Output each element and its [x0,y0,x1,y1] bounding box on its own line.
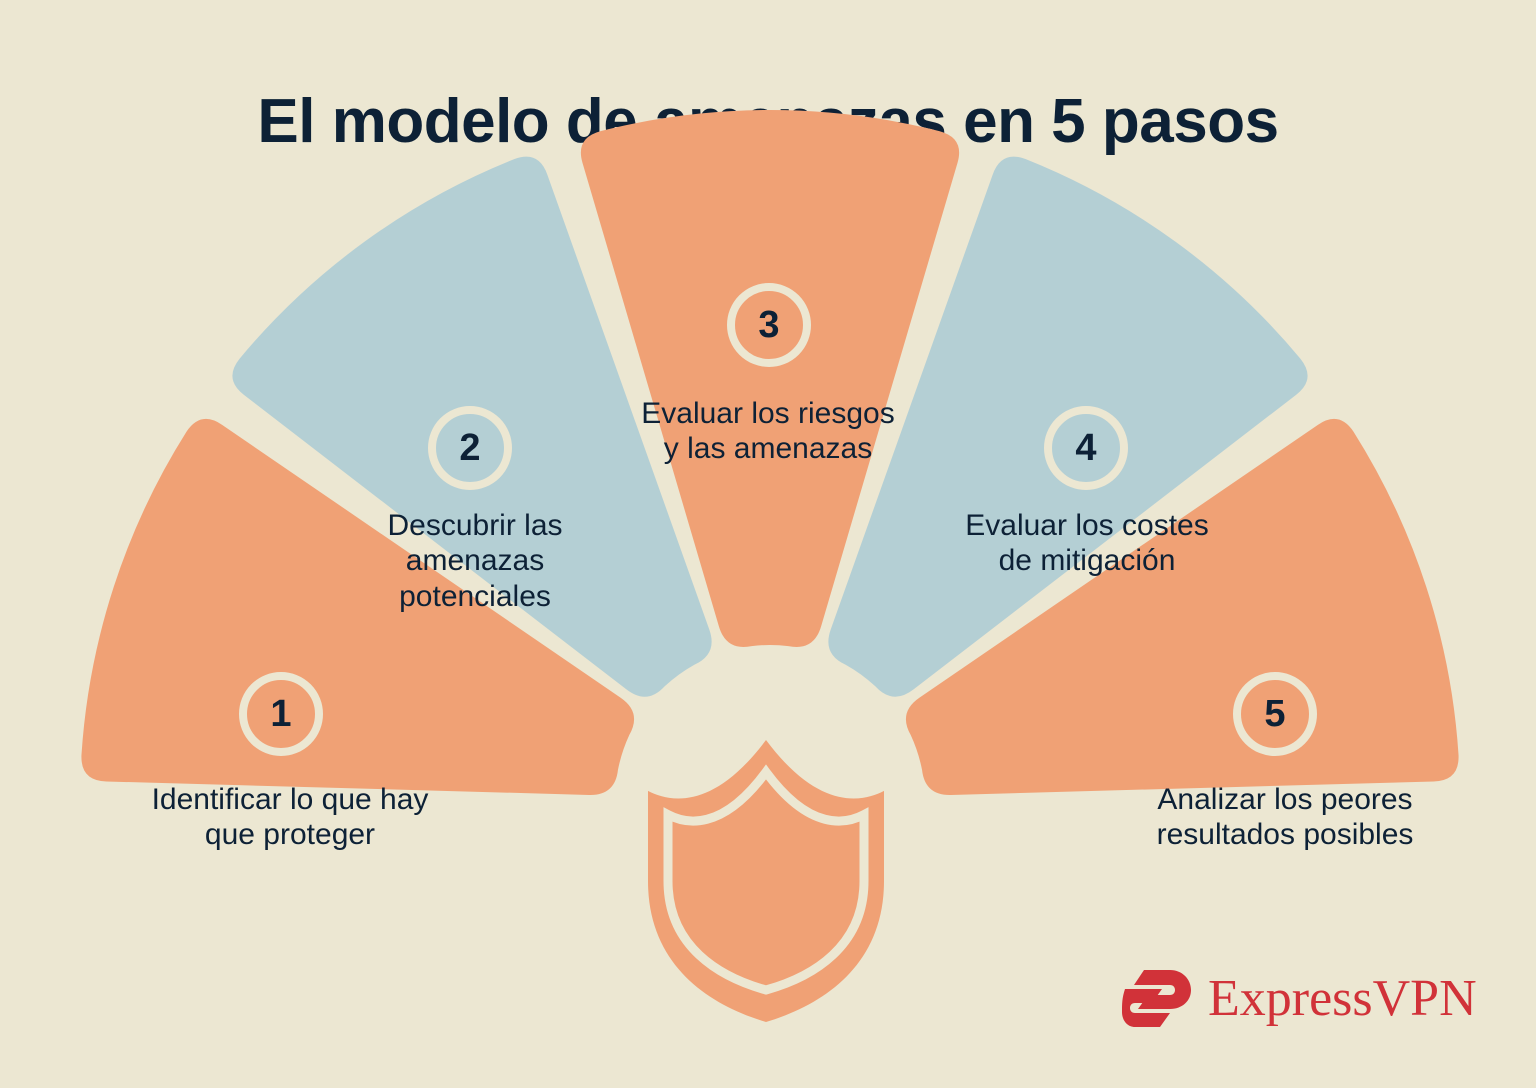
step-label-4: Evaluar los costes de mitigación [917,508,1257,579]
fan-diagram [0,0,1536,1088]
step-badge-2: 2 [428,406,512,490]
step-label-3: Evaluar los riesgos y las amenazas [598,396,938,467]
step-badge-5: 5 [1233,672,1317,756]
shield-icon [648,740,884,1022]
step-number-3: 3 [758,304,779,347]
infographic-page: El modelo de amenazas en 5 pasos 1 Ident… [0,0,1536,1088]
step-badge-4: 4 [1044,406,1128,490]
step-number-1: 1 [270,693,291,736]
step-number-4: 4 [1075,427,1096,470]
step-number-2: 2 [459,427,480,470]
expressvpn-mark-icon [1122,968,1194,1030]
step-number-5: 5 [1264,693,1285,736]
expressvpn-wordmark: ExpressVPN [1208,973,1477,1025]
step-badge-1: 1 [239,672,323,756]
step-label-2: Descubrir las amenazas potenciales [310,508,640,614]
step-label-5: Analizar los peores resultados posibles [1090,782,1480,853]
step-badge-3: 3 [727,283,811,367]
expressvpn-logo: ExpressVPN [1122,968,1477,1030]
step-label-1: Identificar lo que hay que proteger [100,782,480,853]
